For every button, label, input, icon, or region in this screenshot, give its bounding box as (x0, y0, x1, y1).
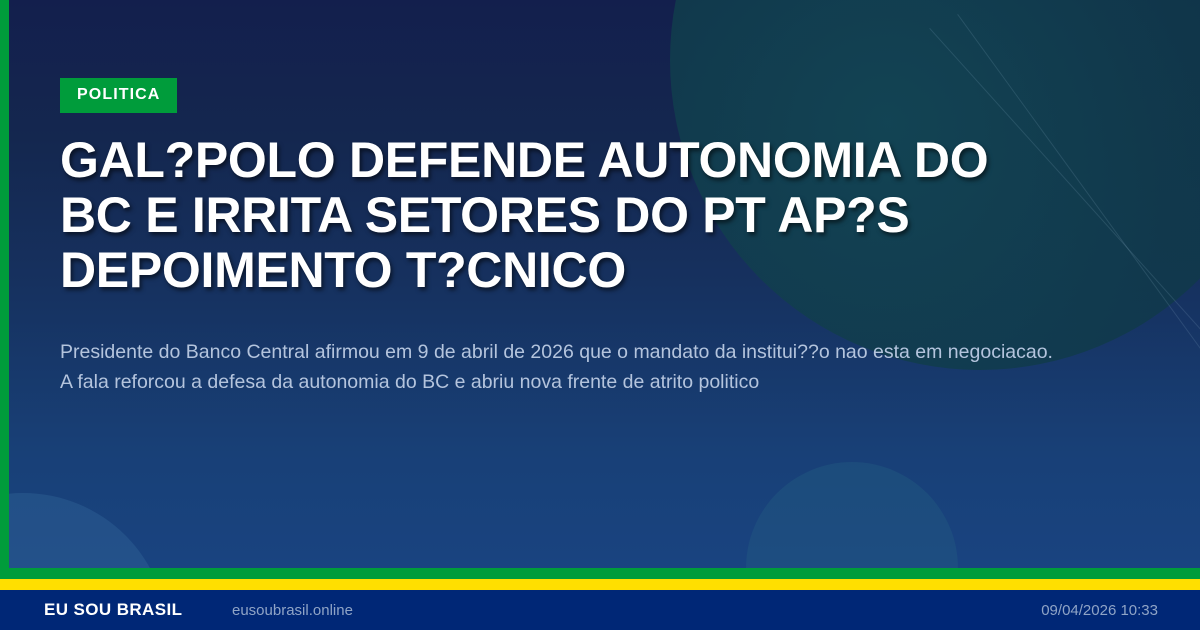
footer-inner: EU SOU BRASIL eusoubrasil.online 09/04/2… (0, 590, 1200, 630)
flag-band-green (0, 568, 1200, 579)
publish-timestamp: 09/04/2026 10:33 (1041, 603, 1158, 618)
flag-band-yellow (0, 579, 1200, 590)
article-summary: Presidente do Banco Central afirmou em 9… (60, 338, 1060, 397)
social-share-card: POLITICA GAL?POLO DEFENDE AUTONOMIA DO B… (0, 0, 1200, 630)
brand-name: EU SOU BRASIL (44, 601, 182, 618)
card-content: POLITICA GAL?POLO DEFENDE AUTONOMIA DO B… (60, 78, 1070, 397)
site-url-link[interactable]: eusoubrasil.online (232, 603, 353, 618)
category-badge[interactable]: POLITICA (60, 78, 177, 113)
page-title: GAL?POLO DEFENDE AUTONOMIA DO BC E IRRIT… (60, 133, 1045, 298)
left-accent-stripe-green (0, 0, 9, 569)
footer-bar: EU SOU BRASIL eusoubrasil.online 09/04/2… (0, 590, 1200, 630)
